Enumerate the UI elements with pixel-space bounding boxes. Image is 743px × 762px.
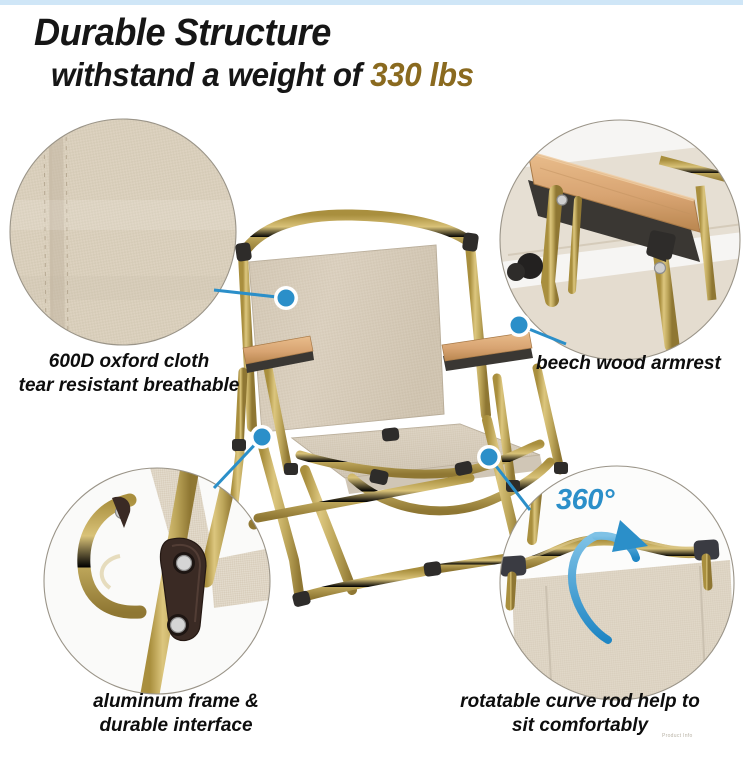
- rotation-badge-360: 360°: [556, 484, 614, 517]
- callout-connectors: [214, 290, 566, 510]
- callout-circle-armrest: [500, 120, 743, 363]
- product-chair-illustration: [232, 215, 568, 608]
- caption-fabric-line-2: tear resistant breathable: [0, 374, 260, 398]
- callout-dot-rod: [477, 445, 501, 469]
- infographic-page: Durable Structure withstand a weight of …: [0, 0, 743, 762]
- connector-rod: [489, 457, 530, 510]
- caption-frame: aluminum frame & durable interface: [40, 690, 312, 738]
- caption-rod-line-1: rotatable curve rod help to: [430, 690, 730, 714]
- callout-dot-frame: [250, 425, 274, 449]
- callout-dot-fabric: [274, 286, 298, 310]
- callout-dots: [250, 286, 531, 469]
- callout-dot-armrest: [507, 313, 531, 337]
- top-accent-bar: [0, 0, 743, 5]
- page-title: Durable Structure withstand a weight of …: [34, 12, 724, 94]
- weight-capacity-value: 330 lbs: [370, 56, 474, 93]
- caption-fabric: 600D oxford cloth tear resistant breatha…: [0, 350, 260, 398]
- callout-circle-frame: [44, 468, 270, 694]
- caption-rod: rotatable curve rod help to sit comforta…: [430, 690, 730, 738]
- connector-armrest: [519, 325, 566, 344]
- caption-frame-line-1: aluminum frame &: [40, 690, 312, 714]
- rotation-arrow-icon: [572, 520, 648, 640]
- callout-circle-fabric: [10, 119, 236, 345]
- frame-joints: [232, 232, 568, 608]
- caption-armrest: beech wood armrest: [536, 352, 721, 376]
- caption-fabric-line-1: 600D oxford cloth: [0, 350, 260, 374]
- armrest-right: [442, 332, 533, 371]
- connector-fabric: [214, 290, 286, 298]
- connector-frame: [214, 437, 262, 488]
- callout-circle-rod: [499, 466, 743, 700]
- caption-frame-line-2: durable interface: [40, 714, 312, 738]
- headline-line-2: withstand a weight of 330 lbs: [51, 56, 690, 94]
- watermark-text: Product Info: [662, 733, 693, 739]
- caption-armrest-line-1: beech wood armrest: [536, 352, 721, 376]
- headline-line-2-prefix: withstand a weight of: [51, 56, 370, 93]
- headline-line-1: Durable Structure: [34, 12, 690, 54]
